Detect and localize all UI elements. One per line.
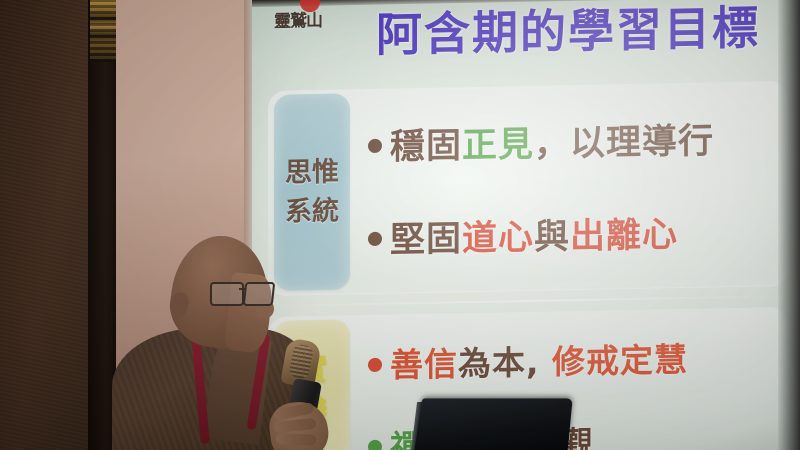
- section-tag-thinking-line1: 思惟: [285, 152, 339, 192]
- bullet-marker-icon: [368, 357, 382, 371]
- speaker-finger: [276, 433, 316, 445]
- bullet-run: 穩固: [390, 126, 462, 167]
- bullet-item: 堅固道心與出離心: [368, 206, 678, 263]
- bullet-run: 堅固: [390, 219, 462, 260]
- microphone: [278, 340, 324, 450]
- laptop-screen: [414, 398, 573, 450]
- gold-ornament: [90, 0, 117, 62]
- bullet-marker-icon: [368, 232, 382, 246]
- bullet-run: 善信: [390, 344, 458, 384]
- bullet-run: 與: [534, 217, 570, 258]
- lecture-photo: 靈鷲山 阿含期的學習目標 思惟 系統 實 踐 穩固正見，以理導行 堅固道心與出離…: [0, 0, 800, 450]
- glasses-lens-right: [243, 282, 276, 306]
- bullet-marker-icon: [368, 439, 382, 450]
- logo-text: 靈鷲山: [274, 5, 344, 31]
- wall-dark-panel: [0, 0, 90, 450]
- section-tag-thinking-line2: 系統: [285, 192, 339, 232]
- bullet-run: ，以理導行: [534, 121, 714, 164]
- bullet-run: 出離心: [570, 215, 678, 257]
- bullet-run: 正見: [462, 125, 534, 166]
- bullet-item: 善信為本, 修戒定慧: [368, 333, 688, 387]
- bullet-run: 為本: [458, 343, 526, 383]
- bullet-run: 道心: [462, 218, 534, 259]
- glasses-lens-left: [210, 282, 244, 306]
- screen-right-frame: [778, 0, 800, 450]
- bullet-item: 穩固正見，以理導行: [368, 112, 714, 170]
- bullet-run: ,: [526, 343, 552, 382]
- glasses-icon: [210, 282, 276, 304]
- organization-logo: 靈鷲山: [274, 0, 344, 59]
- bullet-marker-icon: [368, 139, 382, 153]
- slide-title: 阿含期的學習目標: [376, 0, 760, 65]
- bullet-run: 修戒定慧: [552, 340, 688, 382]
